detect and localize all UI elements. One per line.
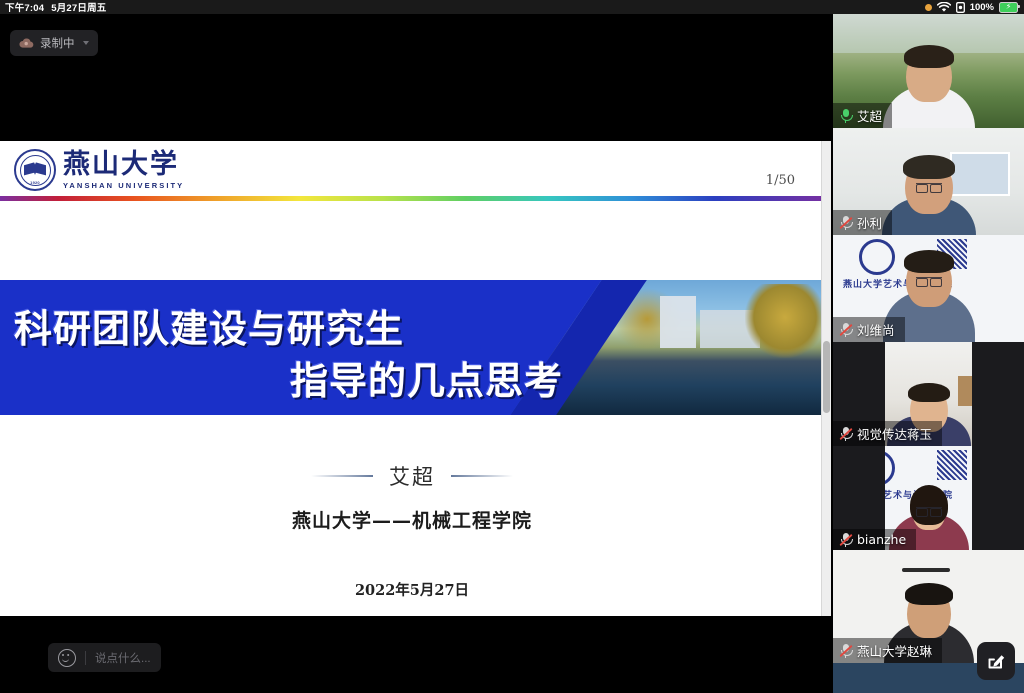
wifi-icon[interactable] (937, 2, 951, 13)
battery-charging-icon[interactable]: ⚡ (999, 2, 1018, 13)
microphone-on-icon[interactable] (839, 108, 852, 123)
photo-building-tall (660, 296, 696, 348)
microphone-off-icon[interactable] (839, 215, 852, 230)
participant-hair (903, 155, 955, 179)
rainbow-divider (0, 196, 831, 201)
photo-tree-right (745, 284, 824, 358)
presenter-name: 艾超 (389, 461, 435, 491)
pencil-square-icon (985, 650, 1007, 672)
video-letterbox (972, 446, 1024, 550)
backdrop-pattern-icon (937, 450, 967, 480)
presenter-row: 艾超 (0, 461, 824, 491)
title-banner: 科研团队建设与研究生 指导的几点思考 (0, 280, 824, 415)
participant-hair (904, 250, 954, 273)
participant-glasses (916, 183, 942, 191)
participant-tile[interactable]: 视觉传达蒋玉 (833, 342, 1024, 446)
screen-record-icon[interactable] (956, 2, 965, 13)
system-menu-bar: 下午7:04 5月27日周五 100% ⚡ (0, 0, 1024, 14)
participant-name-chip: 刘维尚 (833, 317, 905, 342)
logo-text-block: 燕山大学 YANSHAN UNIVERSITY (63, 151, 184, 190)
microphone-off-icon[interactable] (839, 322, 852, 337)
backdrop-seal-icon (859, 239, 895, 275)
microphone-off-icon[interactable] (839, 643, 852, 658)
microphone-off-icon[interactable] (839, 426, 852, 441)
video-wall-picture (950, 152, 1010, 196)
participant-hair (904, 45, 954, 68)
clock-date: 5月27日周五 (51, 0, 106, 14)
participant-glasses (916, 507, 942, 515)
chat-divider (85, 651, 86, 665)
participant-glasses (916, 277, 942, 285)
participant-rail[interactable]: 艾超孙利燕山大学艺术与设计学院刘维尚视觉传达蒋玉燕山大学艺术与设计学院bianz… (833, 14, 1024, 693)
participant-name-chip: 燕山大学赵琳 (833, 638, 942, 663)
participant-name: 艾超 (857, 106, 882, 125)
participant-tile[interactable]: 燕山大学艺术与设计学院bianzhe (833, 446, 1024, 550)
slide-header: 1920 燕山大学 YANSHAN UNIVERSITY 1/50 (0, 141, 831, 197)
menu-bar-left: 下午7:04 5月27日周五 (0, 0, 106, 14)
meeting-window: 下午7:04 5月27日周五 100% ⚡ 录制中 (0, 0, 1024, 693)
video-wall-rail (902, 568, 950, 572)
presenter-rule-right (451, 475, 513, 477)
cloud-icon (19, 38, 34, 49)
chat-input-bar[interactable]: 说点什么... (48, 643, 161, 672)
participant-tile[interactable]: 燕山大学艺术与设计学院刘维尚 (833, 235, 1024, 342)
participant-name-chip: 视觉传达蒋玉 (833, 421, 942, 446)
participant-tile[interactable]: 艾超 (833, 14, 1024, 128)
logo-name-en: YANSHAN UNIVERSITY (63, 181, 184, 190)
slide-scrollbar-thumb[interactable] (823, 341, 830, 413)
university-logo: 1920 燕山大学 YANSHAN UNIVERSITY (14, 149, 184, 191)
menu-bar-right: 100% ⚡ (925, 2, 1024, 13)
presenter-affiliation: 燕山大学——机械工程学院 (0, 506, 824, 533)
participant-name: bianzhe (857, 532, 906, 547)
orange-dot-icon (925, 4, 932, 11)
smiley-icon[interactable] (58, 649, 76, 667)
slide-page-indicator: 1/50 (766, 173, 795, 188)
yanshan-seal-icon: 1920 (14, 149, 56, 191)
recording-status-badge[interactable]: 录制中 (10, 30, 98, 56)
annotate-button[interactable] (977, 642, 1015, 680)
participant-hair (910, 485, 948, 525)
participant-name: 视觉传达蒋玉 (857, 424, 932, 443)
book-emblem-icon (24, 162, 46, 175)
shared-screen-stage[interactable]: 1920 燕山大学 YANSHAN UNIVERSITY 1/50 (0, 141, 831, 616)
video-letterbox (972, 342, 1024, 446)
slide-title-line2: 指导的几点思考 (290, 350, 563, 405)
chevron-down-icon[interactable] (83, 41, 89, 45)
participant-name-chip: bianzhe (833, 529, 916, 550)
slide-title-line1: 科研团队建设与研究生 (14, 298, 404, 353)
participant-name-chip: 孙利 (833, 210, 892, 235)
recording-label: 录制中 (40, 35, 75, 51)
logo-name-cn: 燕山大学 (63, 151, 184, 178)
participant-name: 燕山大学赵琳 (857, 641, 932, 660)
slide-date: 2022年5月27日 (0, 579, 824, 600)
slide-scrollbar[interactable] (821, 141, 831, 616)
microphone-off-icon[interactable] (839, 532, 852, 547)
participant-tile[interactable]: 孙利 (833, 128, 1024, 235)
presentation-slide: 1920 燕山大学 YANSHAN UNIVERSITY 1/50 (0, 141, 831, 616)
clock-time: 下午7:04 (5, 0, 44, 14)
seal-year: 1920 (30, 180, 40, 185)
participant-hair (908, 383, 950, 402)
participant-name-chip: 艾超 (833, 103, 892, 128)
participant-hair (905, 583, 953, 605)
participant-name: 刘维尚 (857, 320, 895, 339)
presenter-rule-left (311, 475, 373, 477)
chat-input[interactable]: 说点什么... (95, 650, 151, 666)
participant-name: 孙利 (857, 213, 882, 232)
battery-percent-label: 100% (970, 2, 994, 13)
